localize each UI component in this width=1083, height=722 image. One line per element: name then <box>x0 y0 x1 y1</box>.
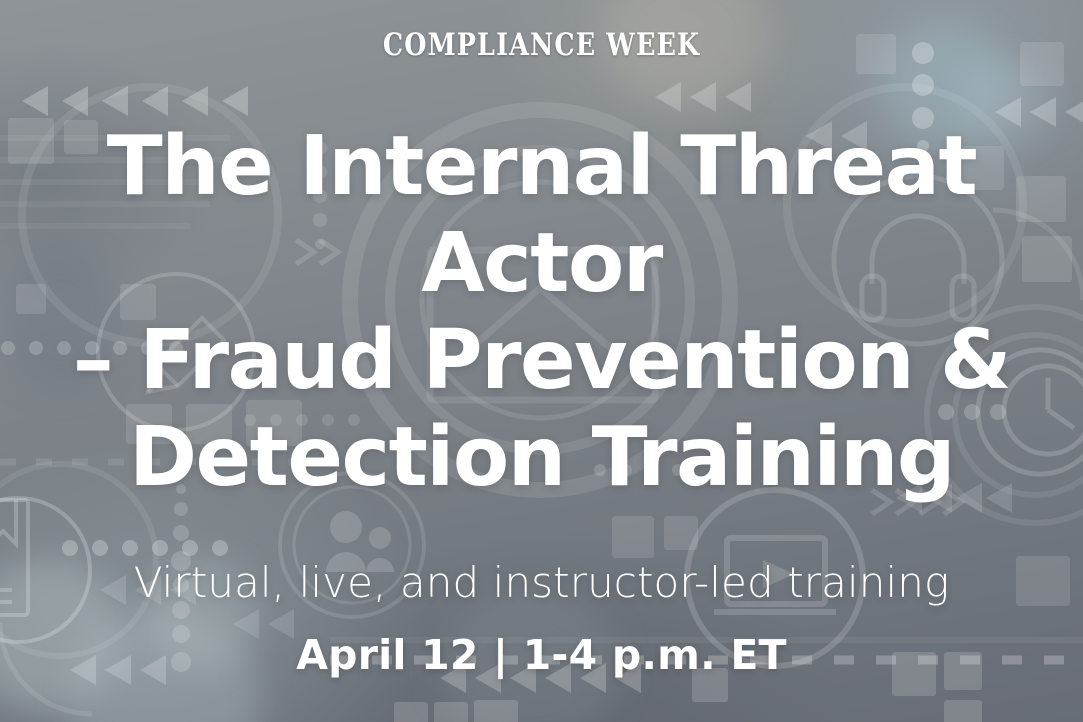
promotional-banner: COMPLIANCE WEEK The Internal Threat Acto… <box>0 0 1083 722</box>
compliance-week-logo: COMPLIANCE WEEK <box>383 27 700 63</box>
banner-content: COMPLIANCE WEEK The Internal Threat Acto… <box>0 0 1083 722</box>
headline-line-2: – Fraud Prevention & <box>17 312 1067 409</box>
event-datetime-text: April 12 | 1-4 p.m. ET <box>296 630 786 680</box>
headline-line-3: Detection Training <box>17 409 1067 506</box>
event-format-text: Virtual, live, and instructor-led traini… <box>134 558 950 608</box>
page-title: The Internal Threat Actor – Fraud Preven… <box>17 118 1067 506</box>
headline-line-1: The Internal Threat Actor <box>17 118 1067 312</box>
